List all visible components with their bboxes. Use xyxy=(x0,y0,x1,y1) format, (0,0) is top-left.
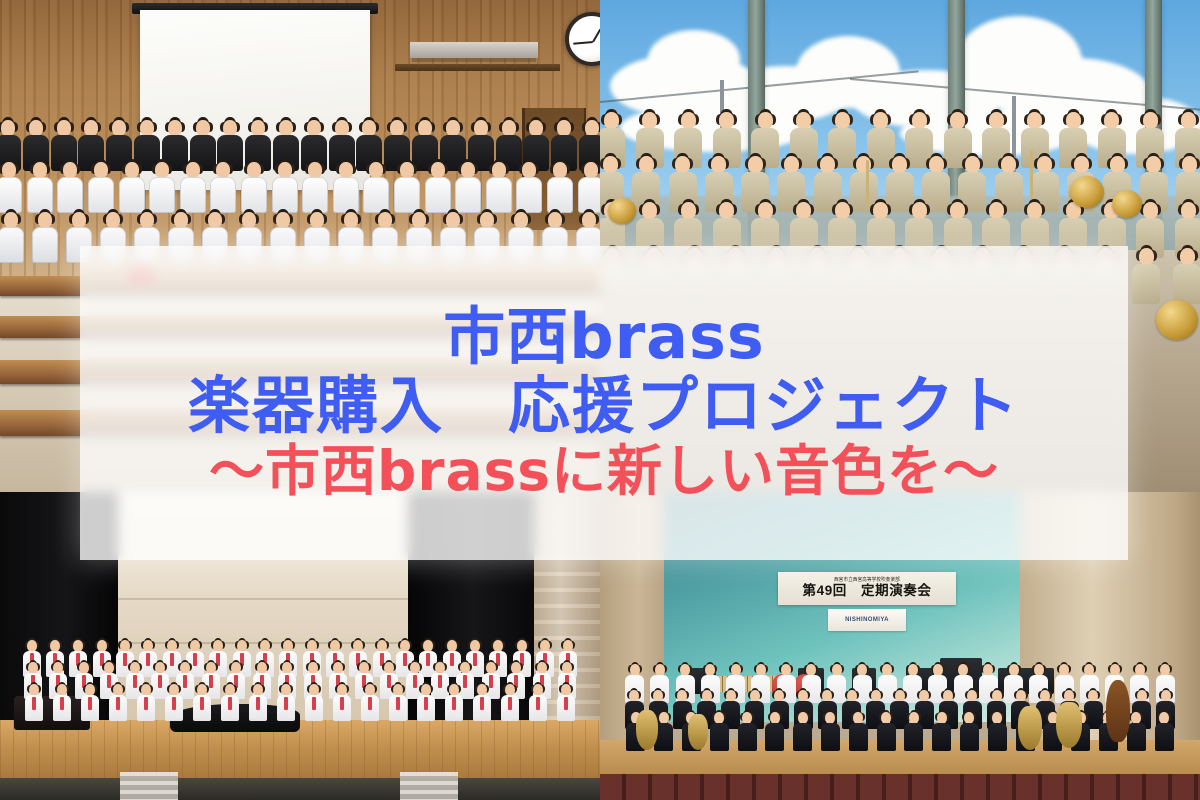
band-member xyxy=(272,684,300,728)
saxophone xyxy=(636,710,658,750)
band-member xyxy=(188,684,216,728)
brass-instrument-bell xyxy=(608,198,636,224)
band-member xyxy=(705,712,733,758)
sponsor-logo-text: NISHINOMIYA xyxy=(845,617,889,623)
ceiling-speaker xyxy=(410,42,538,58)
band-member xyxy=(160,684,188,728)
title-line-2: 楽器購入 応援プロジェクト xyxy=(188,373,1020,440)
band-member xyxy=(440,684,468,728)
band-member xyxy=(104,684,132,728)
band-member xyxy=(844,712,872,758)
title-text-block: 市西brass 楽器購入 応援プロジェクト 〜市西brassに新しい音色を〜 xyxy=(80,246,1128,560)
band-member xyxy=(1126,248,1167,314)
student-figure xyxy=(0,212,28,276)
band-member xyxy=(761,712,789,758)
band-member xyxy=(1150,712,1178,758)
band-member xyxy=(872,712,900,758)
audience-seats xyxy=(600,774,1200,800)
band-row-front xyxy=(20,684,580,728)
title-line-1: 市西brass xyxy=(443,304,765,371)
band-member xyxy=(817,712,845,758)
band-member xyxy=(20,684,48,728)
band-member xyxy=(412,684,440,728)
sponsor-logo: NISHINOMIYA xyxy=(828,609,906,631)
brass-instrument-bell xyxy=(1156,300,1198,340)
band-member xyxy=(900,712,928,758)
brass-instrument-bell xyxy=(1070,176,1104,208)
banner-event-line: 第49回 定期演奏会 xyxy=(802,584,931,599)
band-member xyxy=(328,684,356,728)
stage-apron xyxy=(0,778,600,800)
title-overlay-panel: 市西brass 楽器購入 応援プロジェクト 〜市西brassに新しい音色を〜 xyxy=(80,246,1128,560)
stage-stairs xyxy=(120,772,178,800)
band-member xyxy=(789,712,817,758)
student-figure xyxy=(28,212,62,276)
wall-ledge xyxy=(395,64,560,71)
band-member xyxy=(132,684,160,728)
title-line-3: 〜市西brassに新しい音色を〜 xyxy=(209,442,999,501)
concert-band xyxy=(20,640,580,732)
concert-banner: 西宮市立西宮高等学校吹奏楽部 第49回 定期演奏会 xyxy=(778,572,956,605)
brass-instrument-bell xyxy=(1112,190,1142,218)
poster-collage: 西宮市立西宮高等学校吹奏楽部 第49回 定期演奏会 NISHINOMIYA xyxy=(0,0,1200,800)
cloud-shape xyxy=(648,30,740,88)
band-member xyxy=(300,684,328,728)
band-member xyxy=(216,684,244,728)
band-member xyxy=(244,684,272,728)
band-member xyxy=(468,684,496,728)
banner-school-line: 西宮市立西宮高等学校吹奏楽部 xyxy=(834,578,900,583)
saxophone xyxy=(1056,702,1082,748)
band-member xyxy=(496,684,524,728)
band-member xyxy=(983,712,1011,758)
trombone-slide xyxy=(1030,150,1033,198)
band-member xyxy=(48,684,76,728)
band-member xyxy=(384,684,412,728)
saxophone xyxy=(1018,706,1042,750)
band-member xyxy=(524,684,552,728)
double-bass xyxy=(1106,680,1130,742)
band-member xyxy=(76,684,104,728)
band-member xyxy=(928,712,956,758)
band-member xyxy=(356,684,384,728)
stage-stairs xyxy=(400,772,458,800)
band-member xyxy=(956,712,984,758)
trombone-slide xyxy=(866,160,869,206)
saxophone xyxy=(688,714,708,750)
band-member xyxy=(733,712,761,758)
band-member xyxy=(552,684,580,728)
